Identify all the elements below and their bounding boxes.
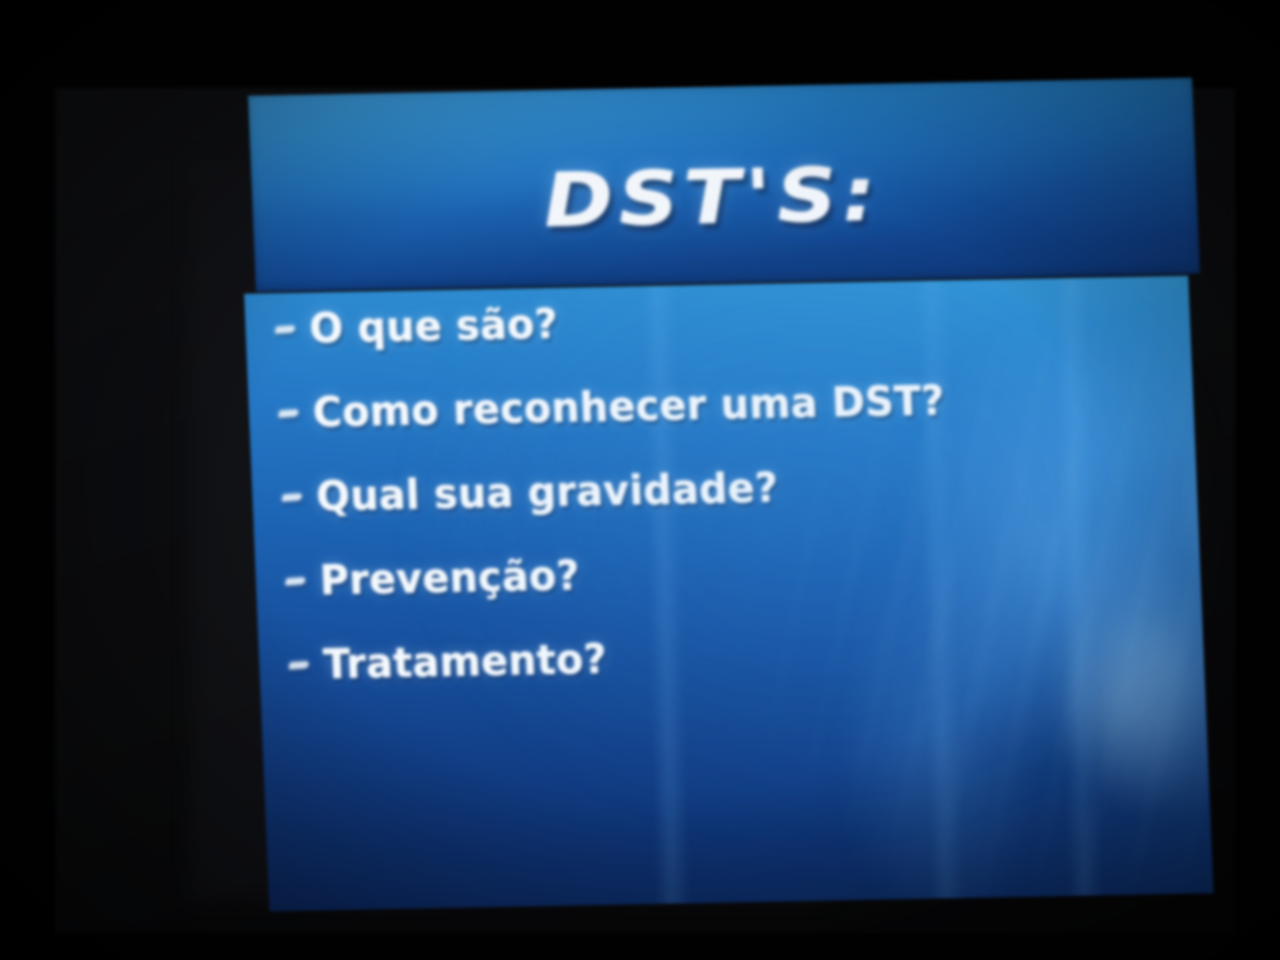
dash-arrow-bullet-icon bbox=[279, 410, 305, 417]
dash-arrow-bullet-icon bbox=[282, 494, 308, 501]
dash-arrow-bullet-icon bbox=[275, 326, 301, 333]
slide-title: DST'S: bbox=[236, 151, 1226, 245]
projected-slide: DST'S: O que são? Como reconhecer uma DS… bbox=[236, 78, 1226, 912]
bullet-label: Prevenção? bbox=[319, 555, 581, 601]
bullet-label: O que são? bbox=[309, 304, 559, 350]
list-item: Tratamento? bbox=[289, 628, 1186, 729]
slide-title-bar: DST'S: bbox=[248, 78, 1200, 292]
bullet-label: Como reconhecer uma DST? bbox=[312, 380, 945, 433]
bullet-label: Tratamento? bbox=[323, 639, 608, 685]
slide-body-panel: O que são? Como reconhecer uma DST? Qual… bbox=[244, 276, 1213, 912]
projection-photo: DST'S: O que são? Como reconhecer uma DS… bbox=[0, 0, 1280, 960]
dash-arrow-bullet-icon bbox=[286, 578, 312, 585]
bullet-label: Qual sua gravidade? bbox=[316, 468, 780, 518]
bullet-list: O que são? Como reconhecer uma DST? Qual… bbox=[275, 292, 1186, 729]
dash-arrow-bullet-icon bbox=[289, 661, 315, 668]
